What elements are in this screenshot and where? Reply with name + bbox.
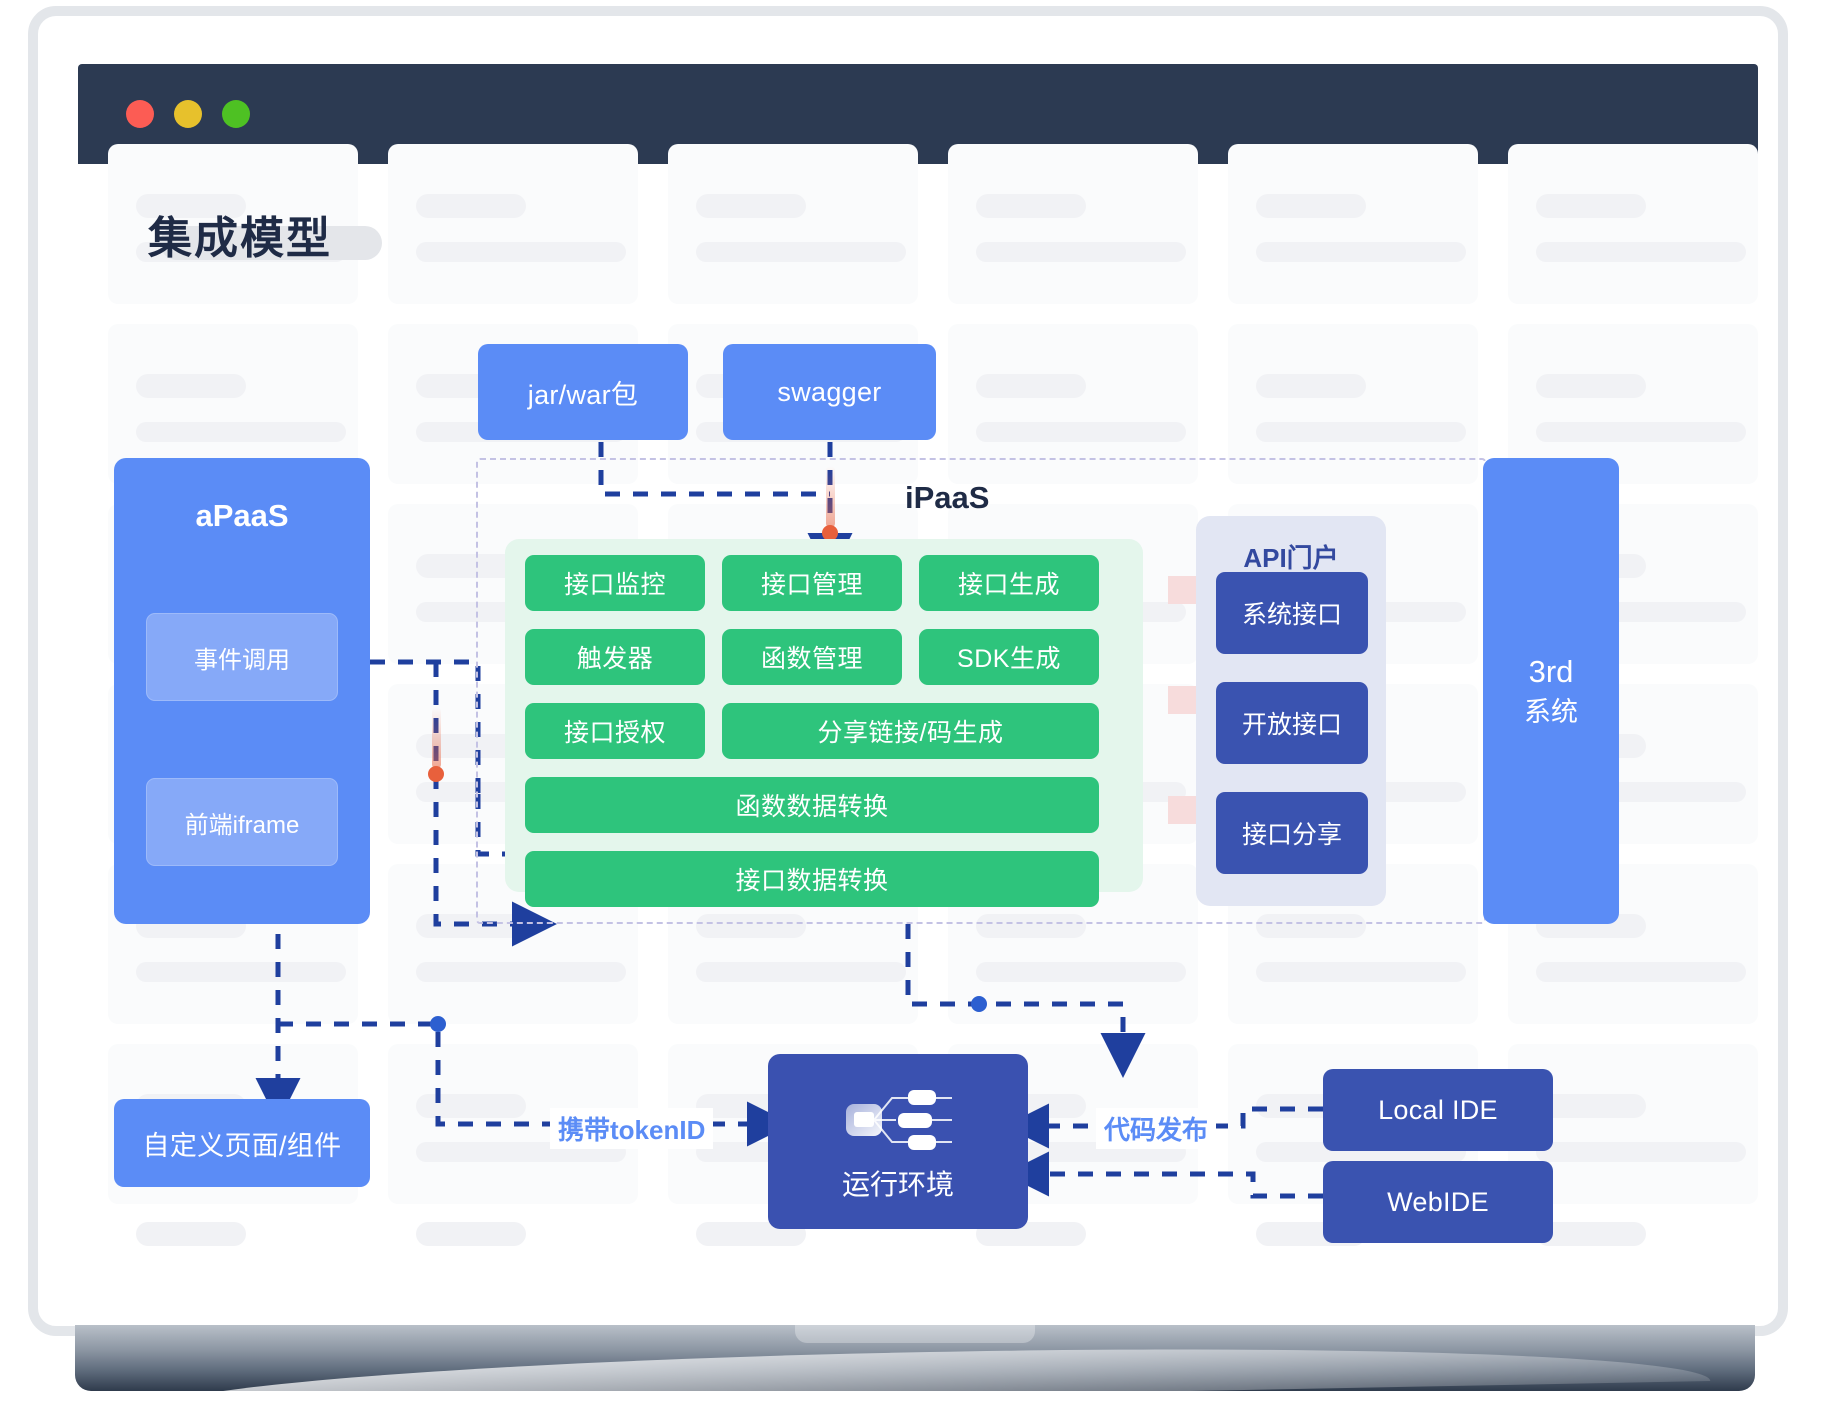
flow-marker-trail-a — [432, 707, 441, 769]
capability-share-link[interactable]: 分享链接/码生成 — [722, 703, 1099, 759]
browser-window: 集成模型 — [78, 64, 1758, 1308]
laptop-notch — [795, 1325, 1035, 1343]
capability-api-generate[interactable]: 接口生成 — [919, 555, 1099, 611]
api-portal-title: API门户 — [1196, 538, 1386, 575]
third-party-system-panel[interactable]: 3rd 系统 — [1483, 458, 1619, 924]
capability-api-generate-label: 接口生成 — [958, 565, 1060, 601]
apaas-panel[interactable]: aPaaS 事件调用 前端iframe — [114, 458, 370, 924]
capability-api-manage[interactable]: 接口管理 — [722, 555, 902, 611]
capability-api-manage-label: 接口管理 — [761, 565, 863, 601]
input-swagger[interactable]: swagger — [723, 344, 936, 440]
web-ide-box[interactable]: WebIDE — [1323, 1161, 1553, 1243]
capability-trigger-label: 触发器 — [577, 639, 654, 675]
capability-trigger[interactable]: 触发器 — [525, 629, 705, 685]
diagram-canvas: 集成模型 — [78, 164, 1758, 1308]
edge-label-deploy: 代码发布 — [1096, 1108, 1216, 1149]
device-frame: 集成模型 — [28, 6, 1788, 1336]
api-portal-share-api-label: 接口分享 — [1242, 815, 1342, 851]
maximize-button[interactable] — [222, 100, 250, 128]
wire-joint-right — [971, 996, 987, 1012]
local-ide-box[interactable]: Local IDE — [1323, 1069, 1553, 1151]
apaas-item-front-iframe-label: 前端iframe — [185, 805, 300, 840]
third-party-subtitle: 系统 — [1524, 694, 1578, 731]
third-party-title: 3rd — [1529, 651, 1574, 694]
capability-api-monitor-label: 接口监控 — [564, 565, 666, 601]
capability-sdk-generate-label: SDK生成 — [957, 639, 1061, 675]
api-portal-share-api[interactable]: 接口分享 — [1216, 792, 1368, 874]
page-title: 集成模型 — [148, 202, 332, 266]
capability-share-link-label: 分享链接/码生成 — [818, 713, 1004, 749]
custom-page-component-label: 自定义页面/组件 — [143, 1124, 342, 1163]
capability-api-auth-label: 接口授权 — [564, 713, 666, 749]
apaas-item-event-call[interactable]: 事件调用 — [146, 613, 338, 701]
local-ide-label: Local IDE — [1378, 1095, 1498, 1126]
api-portal-system-api[interactable]: 系统接口 — [1216, 572, 1368, 654]
network-topology-icon — [830, 1076, 970, 1164]
minimize-button[interactable] — [174, 100, 202, 128]
input-jar-war[interactable]: jar/war包 — [478, 344, 688, 440]
api-portal-system-api-label: 系统接口 — [1242, 595, 1342, 631]
api-portal-open-api-label: 开放接口 — [1242, 705, 1342, 741]
close-button[interactable] — [126, 100, 154, 128]
capability-func-manage-label: 函数管理 — [761, 639, 863, 675]
capability-sdk-generate[interactable]: SDK生成 — [919, 629, 1099, 685]
capability-api-auth[interactable]: 接口授权 — [525, 703, 705, 759]
runtime-environment-label: 运行环境 — [768, 1163, 1028, 1203]
wire-joint-left — [430, 1016, 446, 1032]
api-portal-open-api[interactable]: 开放接口 — [1216, 682, 1368, 764]
web-ide-label: WebIDE — [1387, 1187, 1489, 1218]
transform-api-data-label: 接口数据转换 — [735, 861, 888, 897]
ipaas-title: iPaaS — [905, 480, 989, 516]
apaas-item-event-call-label: 事件调用 — [194, 640, 290, 675]
apaas-item-front-iframe[interactable]: 前端iframe — [146, 778, 338, 866]
runtime-environment-box[interactable]: 运行环境 — [768, 1054, 1028, 1229]
transform-func-data[interactable]: 函数数据转换 — [525, 777, 1099, 833]
capability-func-manage[interactable]: 函数管理 — [722, 629, 902, 685]
custom-page-component[interactable]: 自定义页面/组件 — [114, 1099, 370, 1187]
apaas-title: aPaaS — [114, 498, 370, 534]
transform-api-data[interactable]: 接口数据转换 — [525, 851, 1099, 907]
transform-func-data-label: 函数数据转换 — [735, 787, 888, 823]
input-jar-war-label: jar/war包 — [528, 373, 638, 412]
input-swagger-label: swagger — [777, 377, 881, 408]
edge-label-token: 携带tokenID — [550, 1108, 713, 1149]
flow-marker-a — [428, 766, 444, 782]
capability-api-monitor[interactable]: 接口监控 — [525, 555, 705, 611]
